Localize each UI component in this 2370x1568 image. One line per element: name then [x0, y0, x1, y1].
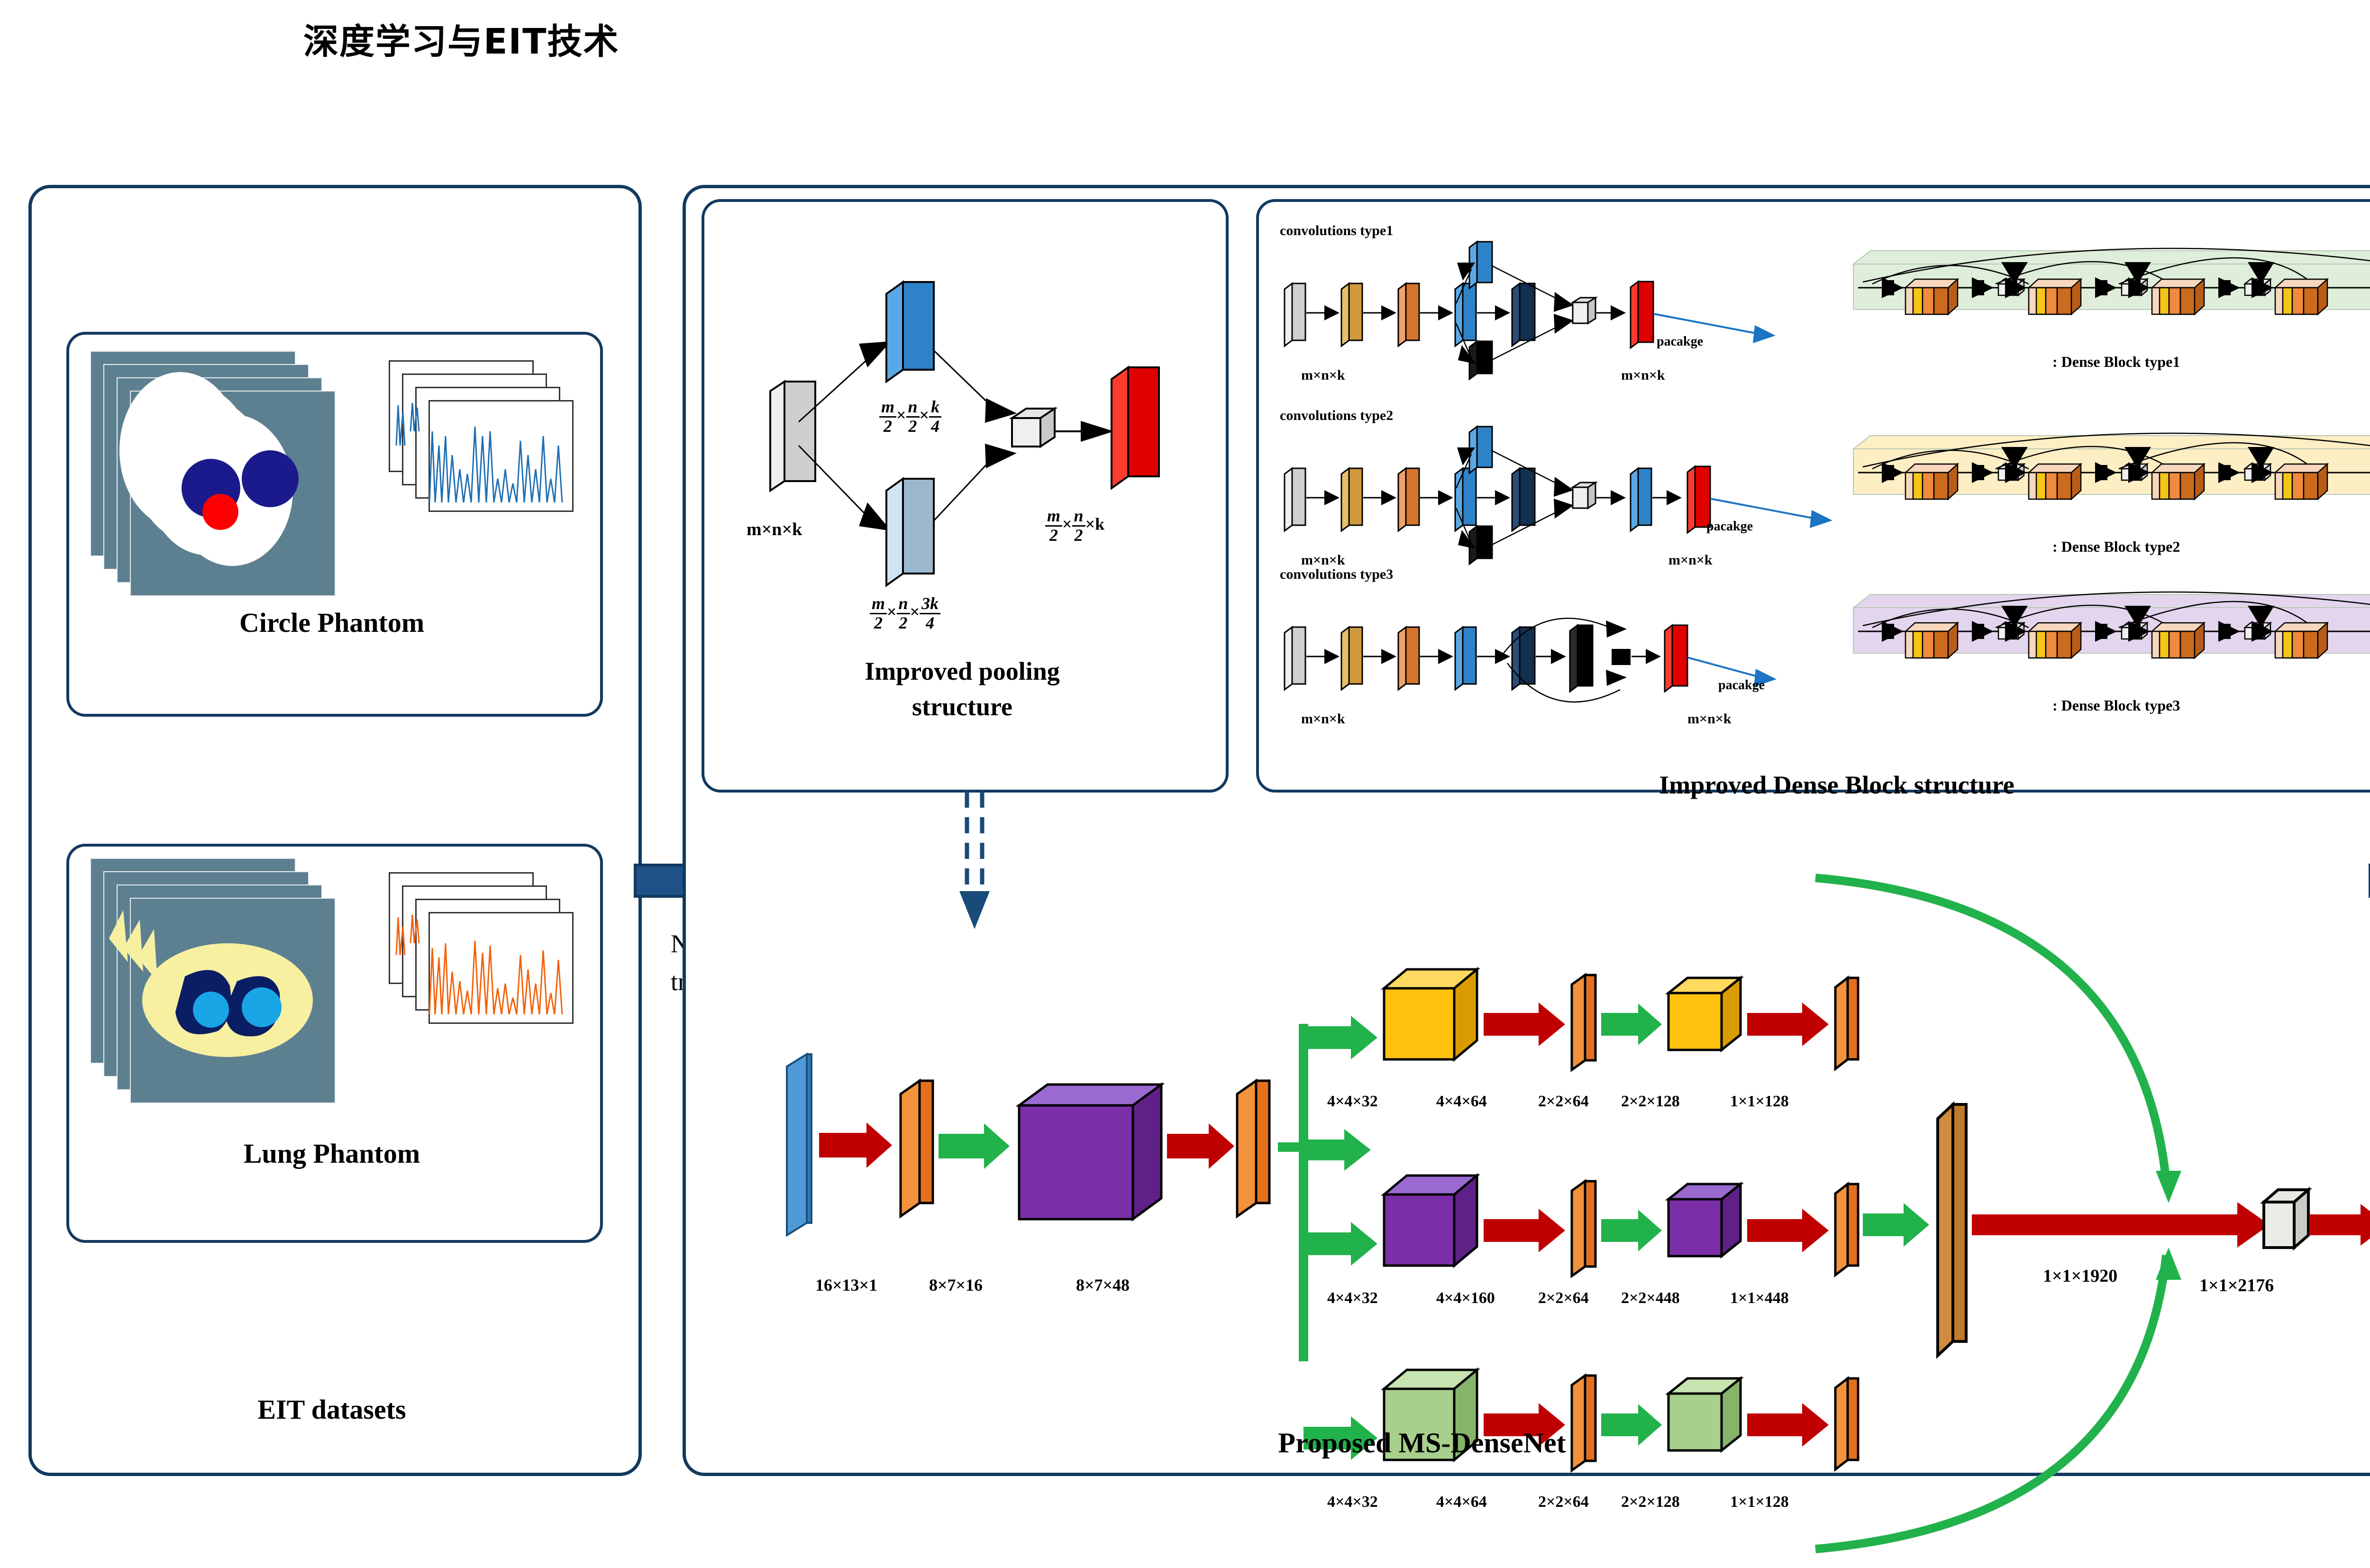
msdensenet-bottom-dim-1: 4×4×32: [1327, 1493, 1378, 1511]
dense-row-2-input-dim: m×n×k: [1301, 552, 1345, 568]
msdensenet-stem: [782, 1005, 1256, 1270]
msdensenet-concat-dim: 1×1×2176: [2199, 1275, 2274, 1296]
msdensenet-middle-dim-3: 2×2×64: [1538, 1289, 1589, 1307]
improved-dense-block-caption: Improved Dense Block structure: [1256, 770, 2370, 800]
lung-phantom-caption: Lung Phantom: [66, 1138, 597, 1169]
dense-row-1-package-label: pacakge: [1657, 334, 1703, 349]
msdensenet-bottom-dim-3: 2×2×64: [1538, 1493, 1589, 1511]
dense-block-legend-1: : Dense Block type1: [2052, 353, 2180, 371]
pooling-input-dim: m×n×k: [747, 519, 802, 540]
dense-row-3-package-label: pacakge: [1718, 678, 1765, 693]
msdensenet-top-dim-5: 1×1×128: [1730, 1093, 1789, 1111]
conv-type-label-1: convolutions type1: [1280, 223, 1393, 239]
pooling-to-msdensenet-connector: [953, 792, 1000, 934]
msdensenet-top-dim-1: 4×4×32: [1327, 1093, 1378, 1111]
eit-datasets-caption: EIT datasets: [66, 1394, 597, 1425]
dense-block-legend-3: : Dense Block type3: [2052, 697, 2180, 714]
dense-row-3-input-dim: m×n×k: [1301, 711, 1345, 727]
dense-block-band-3: [1849, 578, 2370, 687]
conv-type-label-2: convolutions type2: [1280, 408, 1393, 424]
dense-block-legend-2: : Dense Block type2: [2052, 538, 2180, 556]
improved-pooling-caption-line1: Improved pooling: [702, 656, 1223, 686]
dense-row-1-output-dim: m×n×k: [1621, 367, 1665, 383]
conv-type-label-3: convolutions type3: [1280, 566, 1393, 583]
msdensenet-fusion: [1858, 948, 2370, 1422]
msdensenet-stem-dim-3: 8×7×48: [1076, 1275, 1130, 1295]
msdensenet-middle-dim-1: 4×4×32: [1327, 1289, 1378, 1307]
proposed-msdensenet-caption: Proposed MS-DenseNet: [1043, 1427, 1801, 1459]
msdensenet-fc-dim: 1×1×1920: [2043, 1266, 2117, 1286]
dense-row-1-input-dim: m×n×k: [1301, 367, 1345, 383]
circle-phantom-caption: Circle Phantom: [66, 607, 597, 638]
dense-row-3-output-dim: m×n×k: [1687, 711, 1732, 727]
dense-block-band-2: [1849, 419, 2370, 529]
lung-phantom-image-stack: [90, 858, 355, 1123]
conv-chain-3: [1280, 585, 1839, 718]
msdensenet-top-dim-3: 2×2×64: [1538, 1093, 1589, 1111]
msdensenet-top-dim-2: 4×4×64: [1436, 1093, 1487, 1111]
msdensenet-bottom-dim-2: 4×4×64: [1436, 1493, 1487, 1511]
dense-block-band-1: [1849, 235, 2370, 344]
conv-chain-2: [1280, 427, 1839, 559]
msdensenet-bottom-dim-4: 2×2×128: [1621, 1493, 1680, 1511]
msdensenet-middle-dim-4: 2×2×448: [1621, 1289, 1680, 1307]
circle-phantom-signal-stack: [389, 360, 588, 569]
pooling-top-branch-dim: m2×n2×k4: [879, 398, 941, 436]
msdensenet-stem-dim-1: 16×13×1: [815, 1275, 877, 1295]
circle-phantom-image-stack: [90, 351, 355, 597]
msdensenet-bottom-dim-5: 1×1×128: [1730, 1493, 1789, 1511]
msdensenet-middle-dim-5: 1×1×448: [1730, 1289, 1789, 1307]
conv-chain-1: [1280, 242, 1839, 374]
page-title: 深度学习与EIT技术: [303, 13, 620, 64]
dense-row-2-package-label: pacakge: [1706, 519, 1753, 534]
msdensenet-stem-dim-2: 8×7×16: [929, 1275, 983, 1295]
improved-pooling-caption-line2: structure: [702, 692, 1223, 721]
lung-phantom-signal-stack: [389, 872, 588, 1081]
dense-row-2-output-dim: m×n×k: [1668, 552, 1713, 568]
msdensenet-top-dim-4: 2×2×128: [1621, 1093, 1680, 1111]
msdensenet-middle-dim-2: 4×4×160: [1436, 1289, 1495, 1307]
pooling-output-dim: m2×n2×k: [1045, 507, 1104, 545]
pooling-bottom-branch-dim: m2×n2×3k4: [870, 595, 940, 632]
